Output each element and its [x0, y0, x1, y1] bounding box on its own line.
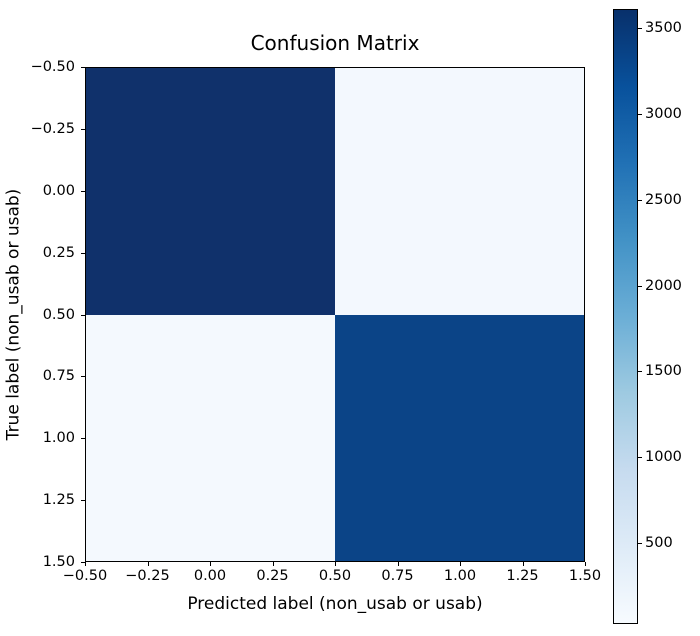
y-tick-mark — [81, 562, 85, 563]
y-tick-mark — [81, 191, 85, 192]
colorbar-tick-label: 3000 — [645, 107, 682, 122]
colorbar-gradient — [613, 9, 638, 624]
x-tick-label: 0.75 — [381, 569, 413, 584]
x-tick-label: −0.25 — [125, 569, 169, 584]
y-tick-mark — [81, 376, 85, 377]
plot-area — [85, 67, 585, 562]
colorbar-tick-label: 3500 — [645, 21, 682, 36]
colorbar-tick-label: 1500 — [645, 364, 682, 379]
x-tick-label: 1.00 — [444, 569, 476, 584]
x-tick-label: 0.50 — [319, 569, 351, 584]
colorbar-tick-mark — [638, 543, 642, 544]
y-tick-label: 1.50 — [43, 555, 75, 570]
x-axis-label: Predicted label (non_usab or usab) — [85, 596, 585, 613]
page-title: Confusion Matrix — [85, 33, 585, 53]
matrix-cell-r0-c0 — [86, 68, 335, 315]
y-axis-label: True label (non_usab or usab) — [0, 67, 28, 562]
x-tick-mark — [273, 562, 274, 566]
x-tick-mark — [335, 562, 336, 566]
y-tick-mark — [81, 438, 85, 439]
x-tick-mark — [585, 562, 586, 566]
y-tick-label: −0.25 — [31, 122, 75, 137]
matrix-cell-r1-c1 — [335, 315, 584, 562]
y-tick-label: 0.00 — [43, 184, 75, 199]
colorbar-tick-mark — [638, 286, 642, 287]
x-tick-label: 1.50 — [569, 569, 601, 584]
x-tick-mark — [523, 562, 524, 566]
y-tick-mark — [81, 253, 85, 254]
colorbar — [613, 9, 638, 624]
y-tick-mark — [81, 67, 85, 68]
y-tick-label: 0.75 — [43, 369, 75, 384]
y-tick-label: 0.25 — [43, 245, 75, 260]
matrix-cell-r1-c0 — [86, 315, 335, 562]
y-tick-mark — [81, 129, 85, 130]
colorbar-tick-label: 2000 — [645, 278, 682, 293]
figure-canvas: Confusion Matrix −0.50−0.250.000.250.500… — [0, 0, 700, 636]
matrix-cell-r0-c1 — [335, 68, 584, 315]
x-tick-label: 0.25 — [256, 569, 288, 584]
colorbar-tick-label: 500 — [645, 536, 673, 551]
x-tick-mark — [85, 562, 86, 566]
x-tick-label: 0.00 — [194, 569, 226, 584]
y-tick-label: 1.00 — [43, 431, 75, 446]
colorbar-tick-mark — [638, 200, 642, 201]
colorbar-tick-mark — [638, 114, 642, 115]
y-tick-mark — [81, 315, 85, 316]
y-tick-mark — [81, 500, 85, 501]
x-tick-label: −0.50 — [63, 569, 107, 584]
colorbar-tick-mark — [638, 371, 642, 372]
x-tick-label: 1.25 — [506, 569, 538, 584]
y-axis-label-text: True label (non_usab or usab) — [6, 189, 23, 441]
confusion-matrix-grid — [86, 68, 584, 561]
x-tick-mark — [210, 562, 211, 566]
colorbar-tick-mark — [638, 457, 642, 458]
y-tick-label: 1.25 — [43, 493, 75, 508]
colorbar-tick-label: 2500 — [645, 192, 682, 207]
y-tick-label: −0.50 — [31, 60, 75, 75]
colorbar-tick-mark — [638, 28, 642, 29]
y-tick-label: 0.50 — [43, 307, 75, 322]
x-tick-mark — [460, 562, 461, 566]
x-tick-mark — [148, 562, 149, 566]
colorbar-tick-label: 1000 — [645, 450, 682, 465]
x-tick-mark — [398, 562, 399, 566]
